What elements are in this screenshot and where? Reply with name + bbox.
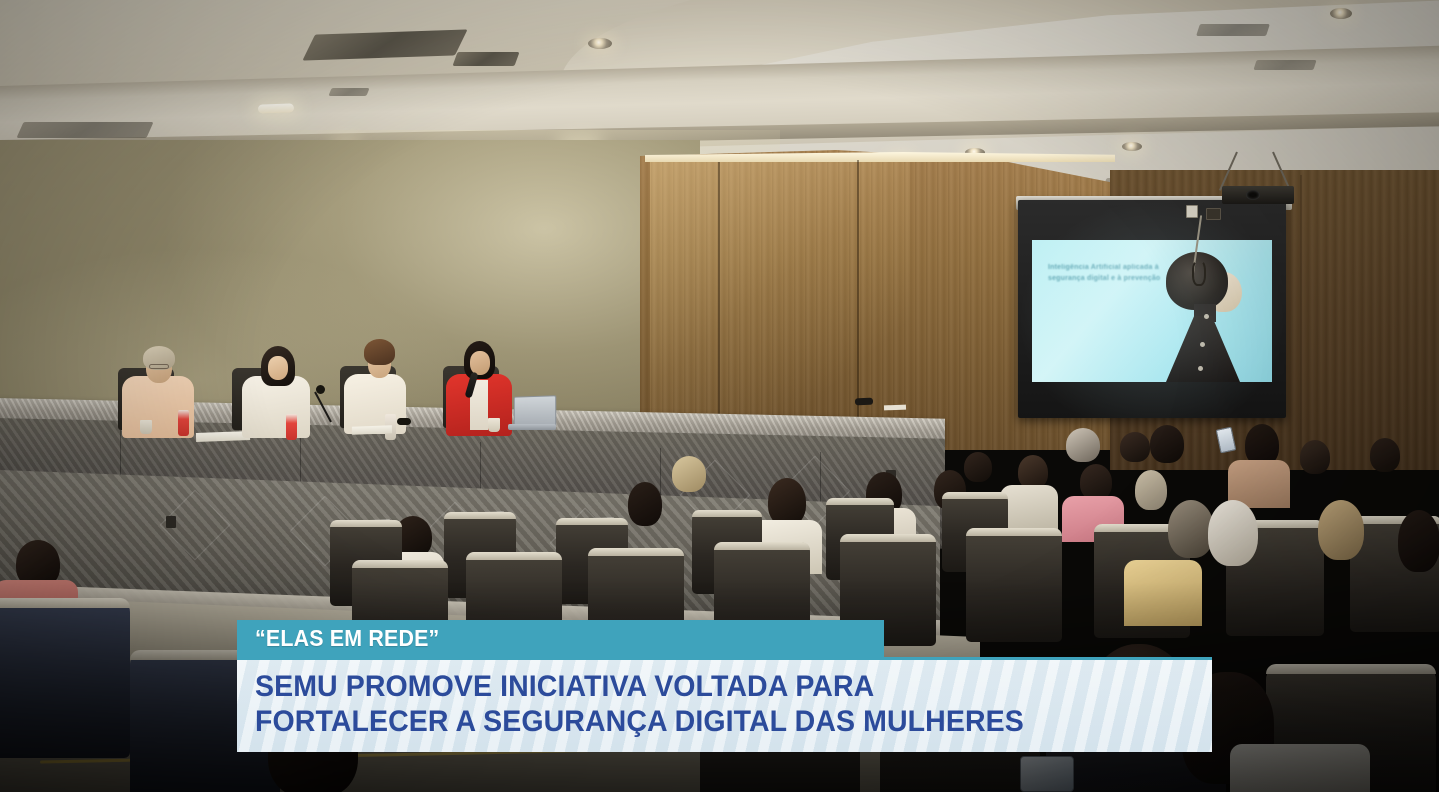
- wall-outlet-plate: [1206, 208, 1221, 220]
- drinking-cup: [140, 420, 152, 434]
- robot-detail-dot: [1198, 366, 1203, 371]
- audience-member-head: [1300, 440, 1330, 474]
- ceiling-downlight: [588, 38, 612, 49]
- auditorium-seat-edge: [0, 598, 130, 608]
- auditorium-seat-edge: [966, 528, 1062, 536]
- panelist-glasses: [149, 364, 169, 369]
- auditorium-seat-foreground[interactable]: [0, 598, 130, 758]
- auditorium-seat-edge: [352, 560, 448, 568]
- ceiling-downlight: [1330, 8, 1352, 19]
- slide-text: Inteligência Artificial aplicada à segur…: [1048, 262, 1168, 284]
- audience-member-head: [672, 456, 706, 492]
- auditorium-seat-edge: [840, 534, 936, 542]
- ceiling-vent: [16, 122, 153, 138]
- auditorium-seat-edge: [826, 498, 894, 505]
- auditorium-seat-edge: [588, 548, 684, 556]
- robot-detail-dot: [1204, 314, 1209, 319]
- panelist-face: [268, 356, 288, 380]
- water-bottle: [178, 410, 189, 436]
- audience-member-head: [1120, 432, 1150, 462]
- lower-third-headline-line-1: SEMU PROMOVE INICIATIVA VOLTADA PARA: [255, 669, 1147, 704]
- auditorium-seat-edge: [556, 518, 628, 525]
- audience-member-head: [964, 452, 992, 482]
- audience-member-head: [1135, 470, 1167, 510]
- drinking-cup: [488, 418, 500, 432]
- broadcast-video-frame: Inteligência Artificial aplicada à segur…: [0, 0, 1439, 792]
- ceiling-vent: [1253, 60, 1316, 70]
- lower-third-kicker-bar: “ELAS EM REDE”: [237, 620, 884, 657]
- audience-member-head: [1168, 500, 1214, 558]
- audience-member-head: [1080, 464, 1112, 500]
- audience-member-head: [1208, 500, 1258, 566]
- wood-panel-highlight: [650, 160, 910, 450]
- audience-member-body: [1000, 485, 1058, 531]
- laptop-base: [508, 424, 556, 430]
- water-bottle: [286, 414, 297, 440]
- auditorium-seat-edge: [942, 492, 1008, 499]
- audience-member-head: [1370, 438, 1400, 472]
- robot-body: [1166, 316, 1240, 382]
- counter-object-paper: [884, 405, 906, 411]
- table-microphone-head: [397, 418, 411, 425]
- wall-outlet: [166, 516, 176, 528]
- ceiling-strip-light: [258, 103, 294, 113]
- wood-panel-seam: [1300, 175, 1302, 465]
- ceiling-downlight: [1122, 142, 1142, 151]
- auditorium-seat-edge: [330, 520, 402, 527]
- panel-papers: [352, 425, 392, 434]
- lower-third-headline-box: SEMU PROMOVE INICIATIVA VOLTADA PARA FOR…: [237, 657, 1212, 752]
- wood-panel-seam: [718, 162, 720, 432]
- laptop-screen: [514, 395, 556, 427]
- audience-member-head: [768, 478, 806, 526]
- table-microphone-head: [316, 385, 325, 394]
- lower-third-kicker-text: “ELAS EM REDE”: [255, 625, 439, 652]
- projector-lens: [1246, 190, 1260, 200]
- audience-member-head: [628, 482, 662, 526]
- robot-detail-dot: [1200, 342, 1205, 347]
- presentation-slide: Inteligência Artificial aplicada à segur…: [1032, 240, 1272, 382]
- audience-member-head: [1150, 425, 1184, 463]
- audience-member-body: [1230, 744, 1370, 792]
- audience-member-body: [1124, 560, 1202, 626]
- ceiling-vent: [328, 88, 369, 96]
- slide-robot-figure: [1160, 250, 1256, 382]
- auditorium-seat-edge: [444, 512, 516, 519]
- auditorium-seat-edge: [466, 552, 562, 560]
- lower-third-headline-line-2: FORTALECER A SEGURANÇA DIGITAL DAS MULHE…: [255, 704, 1147, 739]
- counter-object-remote: [855, 398, 873, 406]
- audience-member-head: [1318, 500, 1364, 560]
- panelist-hair: [364, 339, 395, 365]
- ceiling-vent: [1196, 24, 1270, 36]
- audience-member-head: [1066, 428, 1100, 462]
- auditorium-seat-edge: [692, 510, 762, 517]
- lower-third-graphic: “ELAS EM REDE” SEMU PROMOVE INICIATIVA V…: [237, 620, 1212, 752]
- audience-member-head: [1018, 455, 1048, 489]
- wall-outlet-plate: [1186, 205, 1198, 218]
- projector-cable-loop: [1192, 260, 1206, 286]
- smartphone: [1020, 756, 1074, 792]
- auditorium-seat-edge: [1266, 664, 1436, 674]
- auditorium-seat-edge: [714, 542, 810, 550]
- audience-member-head: [1398, 510, 1439, 572]
- ceiling-vent: [452, 52, 519, 66]
